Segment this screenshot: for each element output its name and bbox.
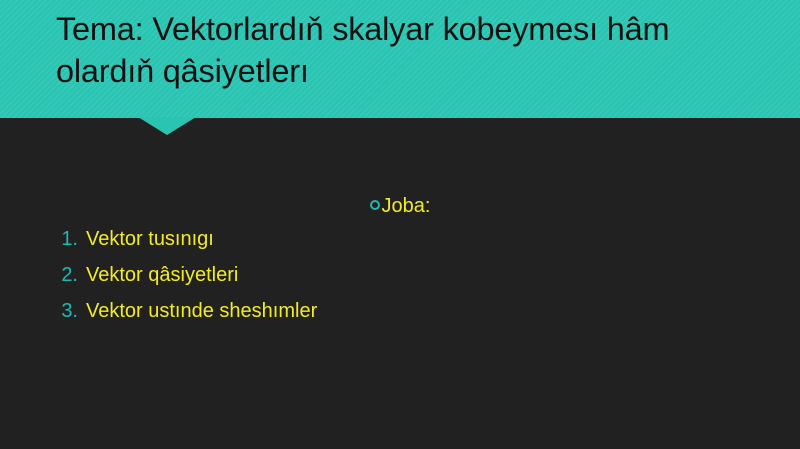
presentation-slide: Tema: Vektorlardıň skalyar kobeymesı hâm…	[0, 0, 800, 449]
list-item-label: Vektor ustınde sheshımler	[86, 300, 800, 323]
list-item-label: Vektor qâsiyetleri	[86, 264, 800, 287]
body-heading-label: Joba:	[382, 194, 431, 218]
agenda-list: 1. Vektor tusınıgı 2. Vektor qâsiyetleri…	[0, 228, 800, 336]
list-item: 3. Vektor ustınde sheshımler	[0, 300, 800, 336]
list-item-number: 2.	[0, 264, 86, 287]
list-item: 2. Vektor qâsiyetleri	[0, 264, 800, 300]
slide-body: Joba: 1. Vektor tusınıgı 2. Vektor qâsiy…	[0, 118, 800, 449]
body-heading: Joba:	[0, 194, 800, 218]
list-item-number: 3.	[0, 300, 86, 323]
list-item-label: Vektor tusınıgı	[86, 228, 800, 251]
list-item: 1. Vektor tusınıgı	[0, 228, 800, 264]
slide-title: Tema: Vektorlardıň skalyar kobeymesı hâm…	[56, 8, 756, 92]
hollow-circle-bullet-icon	[370, 200, 380, 210]
list-item-number: 1.	[0, 228, 86, 251]
